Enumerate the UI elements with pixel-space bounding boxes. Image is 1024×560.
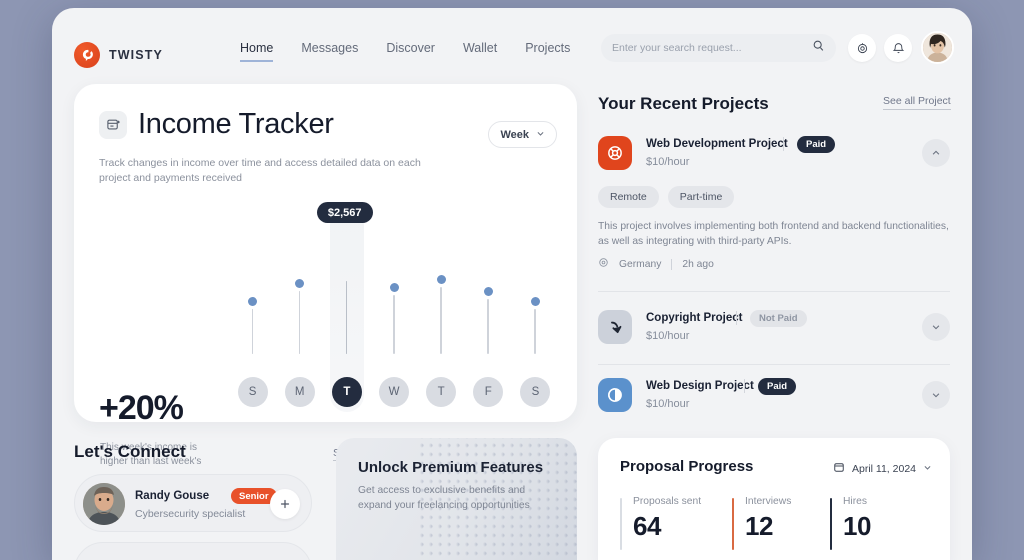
premium-title: Unlock Premium Features [358, 459, 543, 476]
top-navigation-bar: TWISTY Home Messages Discover Wallet Pro… [52, 8, 972, 80]
stat-value: 12 [745, 511, 830, 542]
nav-item-discover[interactable]: Discover [386, 41, 435, 62]
twisty-logo-icon [74, 42, 100, 68]
chart-stem [487, 299, 489, 354]
income-chart: SMTWTFS$2,567 [229, 204, 559, 419]
arrow-down-right-icon [598, 310, 632, 344]
chart-data-point[interactable] [248, 297, 257, 306]
chart-day-label-5[interactable]: F [473, 377, 503, 407]
main-nav: Home Messages Discover Wallet Projects [240, 41, 570, 62]
stat-value: 64 [633, 511, 732, 542]
income-tracker-header: Income Tracker [99, 108, 334, 141]
project-tags: Remote Part-time [598, 186, 734, 208]
divider [598, 291, 950, 292]
nav-item-messages[interactable]: Messages [301, 41, 358, 62]
divider [671, 259, 672, 270]
person-role: Cybersecurity specialist [135, 508, 245, 520]
chevron-down-icon [536, 129, 545, 141]
person-name: Randy Gouse [135, 490, 209, 502]
proposal-progress-card: Proposal Progress April 11, 2024 Proposa… [598, 438, 950, 560]
list-item[interactable]: Randy Gouse Senior Cybersecurity special… [74, 474, 312, 532]
stat-label: Hires [843, 496, 920, 507]
chevron-down-icon[interactable] [922, 381, 950, 409]
chart-column-1[interactable]: M [283, 204, 317, 419]
proposal-date-label: April 11, 2024 [852, 463, 916, 475]
range-selector-label: Week [500, 129, 529, 141]
premium-subtitle: Get access to exclusive benefits and exp… [358, 484, 553, 514]
projects-see-all-link[interactable]: See all Project [883, 95, 951, 110]
search-bar[interactable] [601, 34, 836, 62]
avatar [83, 483, 125, 525]
add-person-button[interactable] [270, 489, 300, 519]
tag-part-time[interactable]: Part-time [668, 186, 735, 208]
chart-data-point[interactable] [295, 279, 304, 288]
income-change-percent: +20% [99, 389, 183, 428]
page-title: Income Tracker [138, 108, 334, 141]
stat-label: Proposals sent [633, 496, 732, 507]
chart-stem [393, 295, 395, 354]
chart-day-label-6[interactable]: S [520, 377, 550, 407]
bell-icon[interactable] [884, 34, 912, 62]
income-tracker-subtitle: Track changes in income over time and ac… [99, 156, 429, 186]
chart-tooltip: $2,567 [317, 202, 373, 223]
project-location: Germany [619, 259, 661, 270]
calendar-icon [833, 461, 845, 476]
chart-stem [440, 287, 442, 354]
chevron-down-icon [923, 463, 932, 475]
chart-data-point[interactable] [484, 287, 493, 296]
range-selector-week[interactable]: Week [488, 121, 557, 148]
chart-stem [534, 309, 536, 354]
chart-column-3[interactable]: W [377, 204, 411, 419]
income-tracker-card: Income Tracker Track changes in income o… [74, 84, 577, 422]
lifebuoy-icon [598, 136, 632, 170]
chart-day-label-3[interactable]: W [379, 377, 409, 407]
stat-value: 10 [843, 511, 920, 542]
chart-day-label-1[interactable]: M [285, 377, 315, 407]
status-badge: Paid [797, 136, 835, 153]
chart-stem [252, 309, 254, 354]
divider [783, 137, 784, 151]
status-badge: Not Paid [750, 310, 807, 327]
project-rate: $10/hour [646, 330, 689, 342]
divider [744, 379, 745, 393]
tag-remote[interactable]: Remote [598, 186, 659, 208]
project-meta: Germany 2h ago [598, 257, 714, 271]
project-rate: $10/hour [646, 156, 689, 168]
chart-column-6[interactable]: S [518, 204, 552, 419]
chevron-up-icon[interactable] [922, 139, 950, 167]
chart-day-label-2[interactable]: T [332, 377, 362, 407]
chevron-down-icon[interactable] [922, 313, 950, 341]
proposal-stats: Proposals sent 64 Interviews 12 Hires 10 [620, 496, 920, 542]
project-description: This project involves implementing both … [598, 220, 950, 250]
connect-section-title: Let's Connect [74, 442, 186, 462]
stat-interviews: Interviews 12 [732, 496, 830, 542]
list-item[interactable] [74, 542, 312, 560]
nav-item-wallet[interactable]: Wallet [463, 41, 497, 62]
chart-day-label-0[interactable]: S [238, 377, 268, 407]
divider [736, 311, 737, 325]
premium-promo-card[interactable]: Unlock Premium Features Get access to ex… [336, 438, 577, 560]
status-badge: Paid [758, 378, 796, 395]
search-icon [812, 39, 825, 57]
project-rate: $10/hour [646, 398, 689, 410]
stat-label: Interviews [745, 496, 830, 507]
card-terminal-icon [99, 111, 127, 139]
chart-column-5[interactable]: F [471, 204, 505, 419]
user-avatar[interactable] [921, 31, 954, 64]
chart-day-label-4[interactable]: T [426, 377, 456, 407]
project-time: 2h ago [682, 259, 714, 270]
divider [598, 364, 950, 365]
nav-item-projects[interactable]: Projects [525, 41, 570, 62]
chart-column-2[interactable]: T [330, 204, 364, 419]
chart-stem [299, 291, 301, 354]
app-window: TWISTY Home Messages Discover Wallet Pro… [52, 8, 972, 560]
chart-data-point[interactable] [531, 297, 540, 306]
chart-column-4[interactable]: T [424, 204, 458, 419]
brand-name: TWISTY [109, 48, 163, 62]
proposal-date-selector[interactable]: April 11, 2024 [833, 461, 932, 476]
stat-hires: Hires 10 [830, 496, 920, 542]
project-name: Web Design Project [646, 380, 754, 392]
chart-column-0[interactable]: S [236, 204, 270, 419]
project-name: Copyright Project [646, 312, 742, 324]
design-sphere-icon [598, 378, 632, 412]
search-input[interactable] [612, 42, 812, 54]
project-name: Web Development Project [646, 138, 788, 150]
location-pin-icon [598, 257, 609, 271]
chart-data-point[interactable] [437, 275, 446, 284]
chart-data-point[interactable] [390, 283, 399, 292]
proposal-title: Proposal Progress [620, 458, 753, 475]
projects-section-title: Your Recent Projects [598, 94, 769, 114]
gear-icon[interactable] [848, 34, 876, 62]
nav-item-home[interactable]: Home [240, 41, 273, 62]
brand-logo-group[interactable]: TWISTY [74, 42, 163, 68]
stat-proposals-sent: Proposals sent 64 [620, 496, 732, 542]
